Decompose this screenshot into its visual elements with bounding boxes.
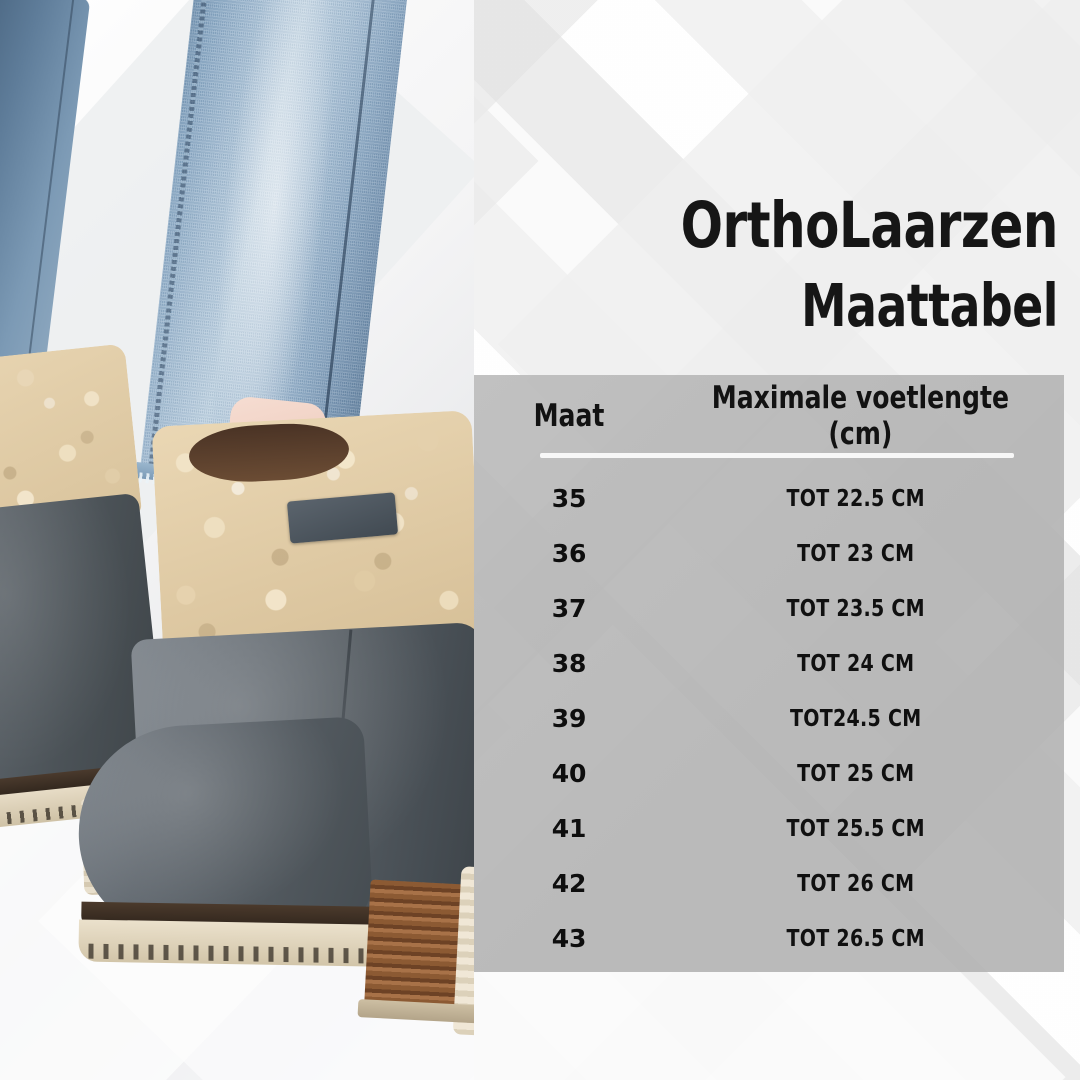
cell-size: 41 — [474, 814, 664, 843]
cell-max-foot-length: TOT 23 CM — [680, 541, 1048, 567]
table-row: 37TOT 23.5 CM — [474, 581, 1064, 636]
brand-title: OrthoLaarzen — [636, 196, 1058, 256]
cell-max-foot-length: TOT 26.5 CM — [680, 926, 1048, 952]
boot-near-stacked-heel — [364, 880, 474, 1019]
boot-near — [92, 407, 474, 1069]
table-row: 40TOT 25 CM — [474, 746, 1064, 801]
table-row: 38TOT 24 CM — [474, 636, 1064, 691]
table-row: 42TOT 26 CM — [474, 856, 1064, 911]
product-photo — [0, 0, 474, 1080]
table-row: 43TOT 26.5 CM — [474, 911, 1064, 966]
header-divider — [540, 453, 1014, 458]
cell-size: 35 — [474, 484, 664, 513]
cell-max-foot-length: TOT24.5 CM — [680, 706, 1048, 732]
column-header-size: Maat — [484, 398, 655, 434]
cell-max-foot-length: TOT 25.5 CM — [680, 816, 1048, 842]
cell-size: 36 — [474, 539, 664, 568]
table-row: 36TOT 23 CM — [474, 526, 1064, 581]
size-chart-panel: Maat Maximale voetlengte (cm) 35TOT 22.5… — [474, 375, 1064, 972]
cell-max-foot-length: TOT 24 CM — [680, 651, 1048, 677]
cell-max-foot-length: TOT 22.5 CM — [680, 486, 1048, 512]
boot-near-sole-lugs — [88, 944, 406, 965]
cell-max-foot-length: TOT 23.5 CM — [680, 596, 1048, 622]
cell-max-foot-length: TOT 26 CM — [680, 871, 1048, 897]
cell-size: 39 — [474, 704, 664, 733]
table-row: 35TOT 22.5 CM — [474, 471, 1064, 526]
size-chart-rows: 35TOT 22.5 CM36TOT 23 CM37TOT 23.5 CM38T… — [474, 471, 1064, 966]
cell-size: 37 — [474, 594, 664, 623]
size-chart-header-row: Maat Maximale voetlengte (cm) — [474, 393, 1064, 439]
column-header-max-foot-length: Maximale voetlengte (cm) — [684, 380, 1044, 452]
table-row: 41TOT 25.5 CM — [474, 801, 1064, 856]
cell-size: 38 — [474, 649, 664, 678]
brand-subtitle: Maattabel — [645, 276, 1058, 335]
table-row: 39TOT24.5 CM — [474, 691, 1064, 746]
cell-max-foot-length: TOT 25 CM — [680, 761, 1048, 787]
cell-size: 42 — [474, 869, 664, 898]
cell-size: 40 — [474, 759, 664, 788]
cell-size: 43 — [474, 924, 664, 953]
brand-heading-block: OrthoLaarzen Maattabel — [578, 196, 1058, 335]
